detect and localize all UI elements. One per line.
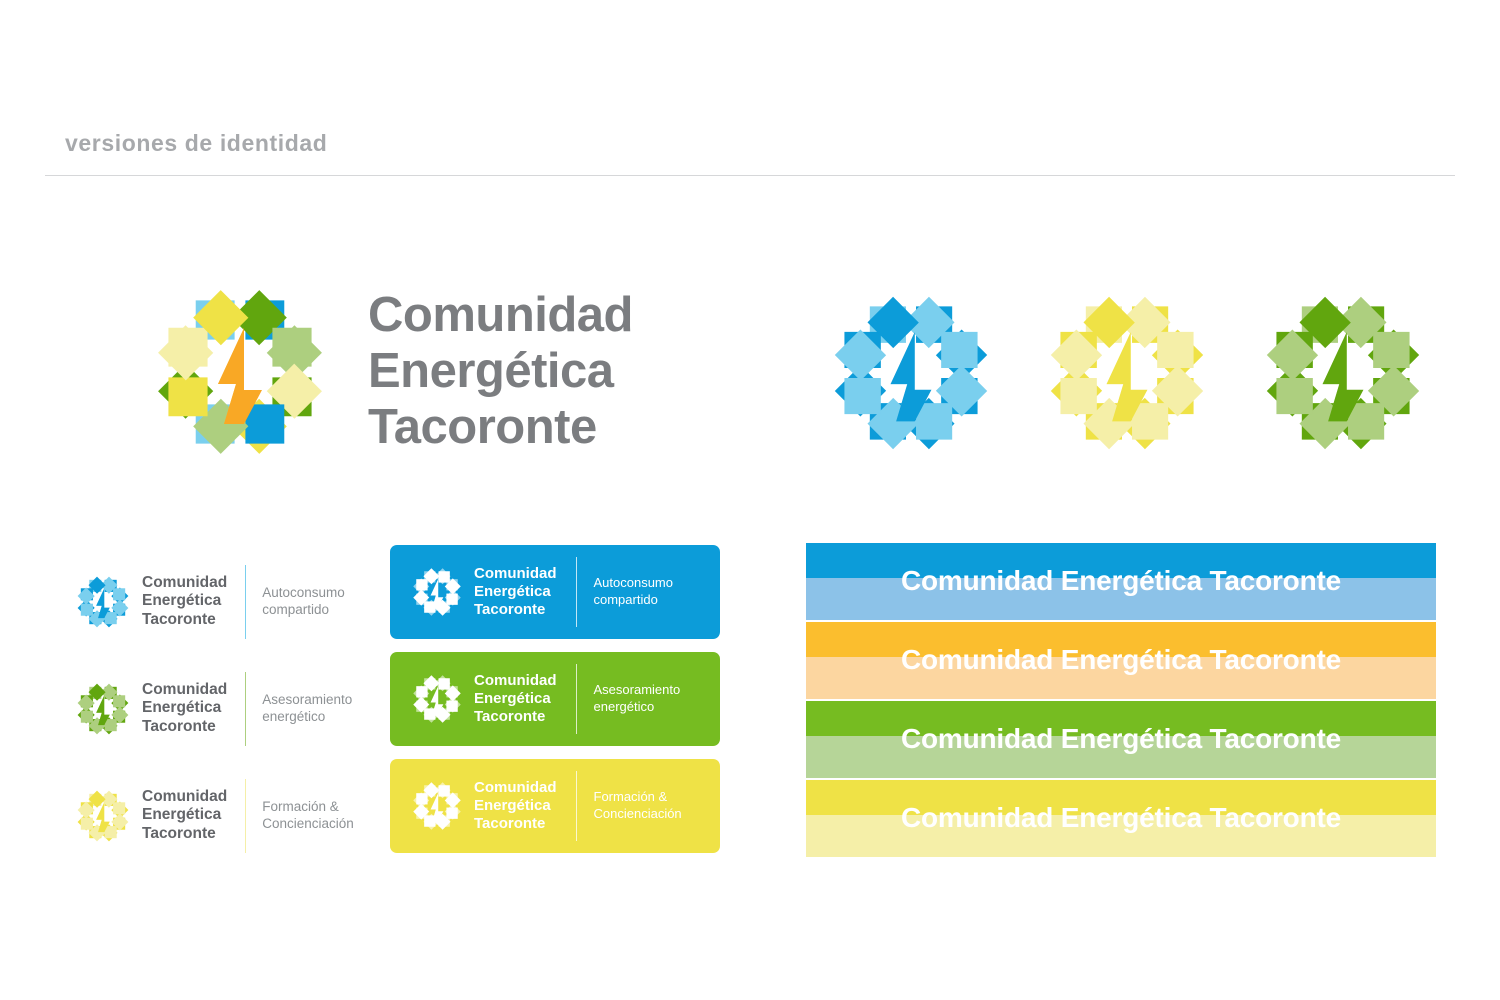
sublogo-symbol-asesoramiento-icon	[72, 678, 134, 740]
sublogo-card-tagline: Formación & Concienciación	[594, 789, 682, 823]
logo-symbol-icon	[140, 272, 340, 472]
sublogo-card-symbol-asesoramiento-icon	[408, 670, 466, 728]
sublogo-card-wordmark: Comunidad Energética Tacoronte	[474, 672, 557, 726]
sublogo-tagline: Autoconsumo compartido	[262, 585, 345, 619]
sublogo-card-autoconsumo: Comunidad Energética TacoronteAutoconsum…	[390, 545, 720, 639]
sublogo-tagline: Asesoramiento energético	[262, 692, 352, 726]
logo-wordmark: Comunidad Energética Tacoronte	[368, 288, 633, 456]
primary-logo-lockup: Comunidad Energética Tacoronte	[140, 272, 633, 472]
sublogo-row-asesoramiento: Comunidad Energética TacoronteAsesoramie…	[72, 655, 390, 762]
colorbar-bar-orange: Comunidad Energética Tacoronte	[806, 622, 1436, 699]
sublogo-row-formacion: Comunidad Energética TacoronteFormación …	[72, 762, 390, 869]
sublogo-plain-group: Comunidad Energética TacoronteAutoconsum…	[72, 548, 390, 869]
sublogo-wordmark: Comunidad Energética Tacoronte	[142, 681, 227, 736]
colorbar-label: Comunidad Energética Tacoronte	[806, 565, 1436, 597]
sublogo-divider	[245, 565, 246, 639]
sublogo-divider	[245, 779, 246, 853]
sublogo-card-divider	[576, 664, 577, 734]
sublogo-divider	[245, 672, 246, 746]
colorbar-bar-yellow: Comunidad Energética Tacoronte	[806, 780, 1436, 857]
sublogo-symbol-formacion-icon	[72, 785, 134, 847]
sublogo-wordmark: Comunidad Energética Tacoronte	[142, 788, 227, 843]
sublogo-row-autoconsumo: Comunidad Energética TacoronteAutoconsum…	[72, 548, 390, 655]
colorbar-bar-green: Comunidad Energética Tacoronte	[806, 701, 1436, 778]
sublogo-card-symbol-autoconsumo-icon	[408, 563, 466, 621]
symbol-green-icon	[1250, 280, 1436, 466]
sublogo-card-tagline: Asesoramiento energético	[594, 682, 681, 716]
section-header: versiones de identidad	[45, 130, 1455, 176]
symbol-blue-icon	[818, 280, 1004, 466]
sublogo-card-wordmark: Comunidad Energética Tacoronte	[474, 565, 557, 619]
sublogo-wordmark: Comunidad Energética Tacoronte	[142, 574, 227, 629]
colorbar-label: Comunidad Energética Tacoronte	[806, 802, 1436, 834]
sublogo-card-wordmark: Comunidad Energética Tacoronte	[474, 779, 557, 833]
header-divider	[45, 175, 1455, 176]
sublogo-symbol-autoconsumo-icon	[72, 571, 134, 633]
sublogo-card-divider	[576, 557, 577, 627]
sublogo-tagline: Formación & Concienciación	[262, 799, 354, 833]
symbol-yellow-icon	[1034, 280, 1220, 466]
logo-symbol-icon	[140, 272, 340, 472]
sublogo-card-group: Comunidad Energética TacoronteAutoconsum…	[390, 545, 720, 866]
colorbar-group: Comunidad Energética TacoronteComunidad …	[806, 543, 1436, 859]
sublogo-card-formacion: Comunidad Energética TacoronteFormación …	[390, 759, 720, 853]
page-title: versiones de identidad	[45, 130, 1455, 175]
colorbar-bar-blue: Comunidad Energética Tacoronte	[806, 543, 1436, 620]
sublogo-card-tagline: Autoconsumo compartido	[594, 575, 674, 609]
colorbar-label: Comunidad Energética Tacoronte	[806, 644, 1436, 676]
sublogo-card-divider	[576, 771, 577, 841]
symbol-variants-group	[818, 280, 1436, 466]
sublogo-card-asesoramiento: Comunidad Energética TacoronteAsesoramie…	[390, 652, 720, 746]
sublogo-card-symbol-formacion-icon	[408, 777, 466, 835]
colorbar-label: Comunidad Energética Tacoronte	[806, 723, 1436, 755]
